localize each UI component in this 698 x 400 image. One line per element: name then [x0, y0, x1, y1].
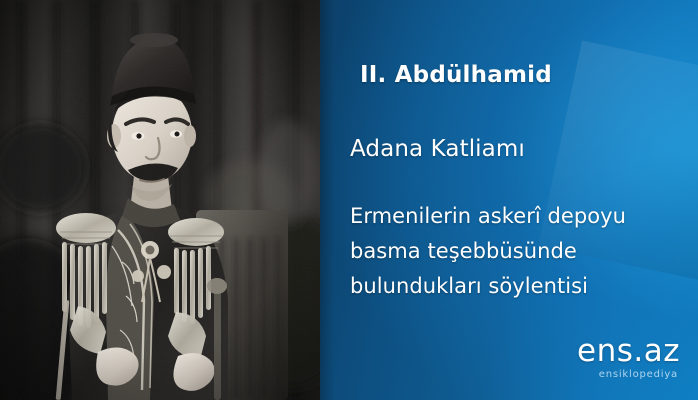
ensaz-logo[interactable]: ens.az ensiklopediya [577, 336, 680, 380]
logo-tagline: ensiklopediya [577, 370, 678, 380]
description-line-2: basma teşebbüsünde [350, 234, 690, 269]
portrait-photo [0, 0, 320, 400]
logo-wordmark: ens.az [577, 336, 680, 367]
description-text: Ermenilerin askerî depoyu basma teşebbüs… [350, 199, 690, 304]
page-title: II. Abdülhamid [360, 62, 552, 88]
description-line-1: Ermenilerin askerî depoyu [350, 199, 690, 234]
info-panel: II. Abdülhamid Adana Katliamı Ermenileri… [320, 0, 698, 400]
ensaz-info-card: II. Abdülhamid Adana Katliamı Ermenileri… [0, 0, 698, 400]
description-line-3: bulundukları söylentisi [350, 269, 690, 304]
subject-heading: Adana Katliamı [350, 136, 525, 162]
portrait-photo-image [0, 0, 320, 400]
